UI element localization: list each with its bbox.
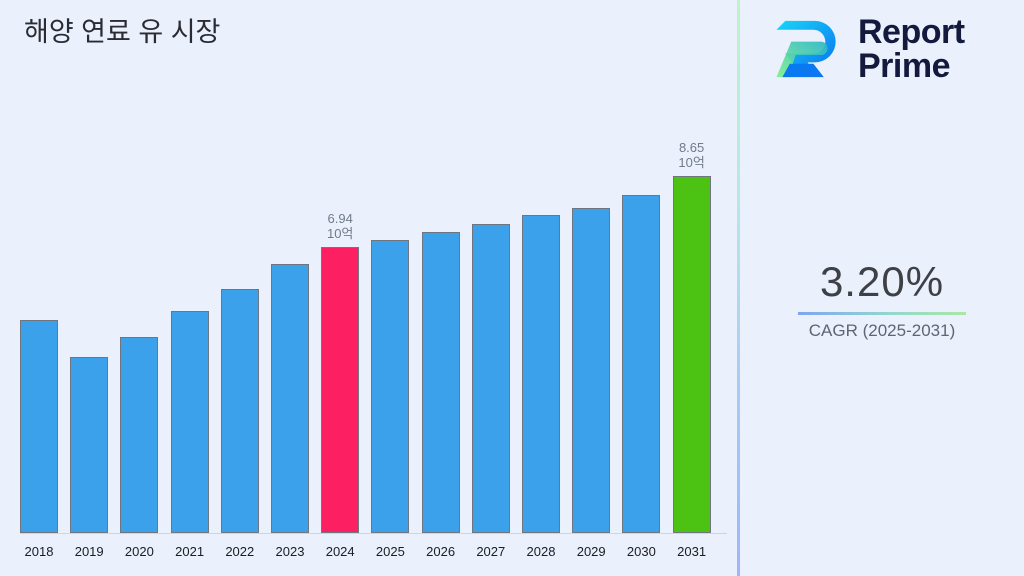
data-label-2024: 6.9410억 — [299, 211, 381, 241]
data-label-value: 8.65 — [651, 140, 733, 155]
bar-2022[interactable] — [221, 289, 259, 533]
bar-group-2023: 2023 — [271, 43, 309, 533]
bar-group-2031: 8.6510억2031 — [673, 43, 711, 533]
bar-2023[interactable] — [271, 264, 309, 533]
bar-2019[interactable] — [70, 357, 108, 533]
bar-group-2019: 2019 — [70, 43, 108, 533]
bar-2025[interactable] — [371, 240, 409, 533]
data-label-unit: 10억 — [299, 226, 381, 241]
bar-2024[interactable] — [321, 247, 359, 533]
bar-group-2027: 2027 — [472, 43, 510, 533]
bar-2028[interactable] — [522, 215, 560, 533]
brand-logo-text-line2: Prime — [858, 49, 965, 83]
cagr-caption: CAGR (2025-2031) — [740, 320, 1024, 342]
bar-group-2020: 2020 — [120, 43, 158, 533]
brand-logo-text-line1: Report — [858, 15, 965, 49]
bar-2027[interactable] — [472, 224, 510, 533]
bar-2026[interactable] — [422, 232, 460, 533]
bar-2030[interactable] — [622, 195, 660, 533]
side-panel: Report Prime 3.20% CAGR (2025-2031) — [740, 0, 1024, 576]
bar-chart-plot-area: 2018201920202021202220236.9410억202420252… — [0, 0, 738, 576]
report-prime-logo-mark-icon — [772, 12, 846, 86]
bar-group-2021: 2021 — [171, 43, 209, 533]
bar-2029[interactable] — [572, 208, 610, 533]
bar-2031[interactable] — [673, 176, 711, 533]
bar-group-2025: 2025 — [371, 43, 409, 533]
cagr-divider-rule — [798, 312, 966, 315]
bar-group-2024: 6.9410억2024 — [321, 43, 359, 533]
chart-panel: 해양 연료 유 시장 2018201920202021202220236.941… — [0, 0, 738, 576]
bar-group-2026: 2026 — [422, 43, 460, 533]
bar-2020[interactable] — [120, 337, 158, 533]
bar-2018[interactable] — [20, 320, 58, 533]
bar-group-2030: 2030 — [622, 43, 660, 533]
bar-group-2022: 2022 — [221, 43, 259, 533]
brand-logo: Report Prime — [772, 12, 965, 86]
brand-logo-text: Report Prime — [858, 15, 965, 83]
bar-group-2028: 2028 — [522, 43, 560, 533]
cagr-block: 3.20% CAGR (2025-2031) — [740, 258, 1024, 342]
bar-2021[interactable] — [171, 311, 209, 533]
x-tick-2031: 2031 — [659, 544, 725, 559]
data-label-value: 6.94 — [299, 211, 381, 226]
cagr-value: 3.20% — [740, 258, 1024, 306]
data-label-2031: 8.6510억 — [651, 140, 733, 170]
bar-group-2029: 2029 — [572, 43, 610, 533]
data-label-unit: 10억 — [651, 155, 733, 170]
bar-group-2018: 2018 — [20, 43, 58, 533]
x-axis-baseline — [20, 533, 727, 534]
